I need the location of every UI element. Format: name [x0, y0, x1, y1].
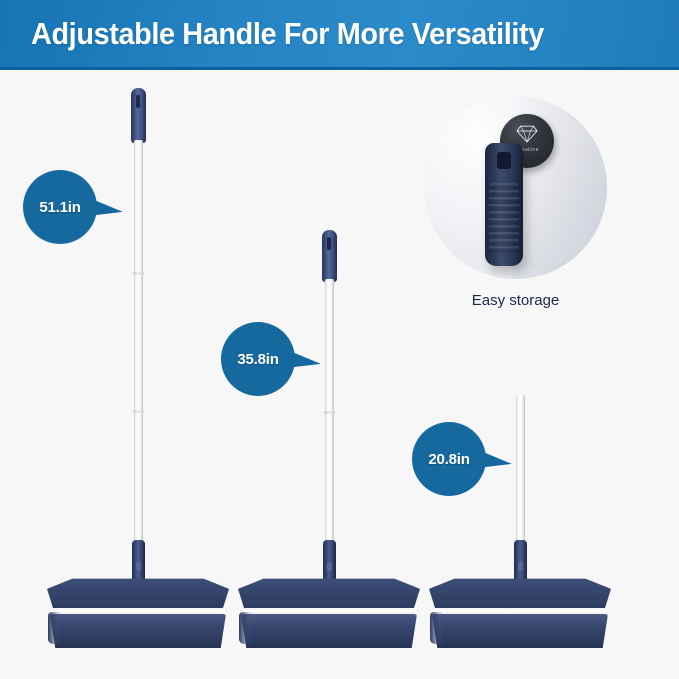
header-banner: Adjustable Handle For More Versatility	[0, 0, 679, 70]
squeegee-head-short	[429, 578, 611, 650]
head-side-tab	[239, 612, 251, 644]
squeegee-tall	[47, 88, 229, 623]
telescoping-pole-tall	[134, 140, 143, 550]
callout-label: 20.8in	[428, 451, 469, 468]
pole-joint	[133, 410, 144, 413]
head-top-shell	[238, 578, 420, 612]
diamond-icon	[516, 125, 538, 143]
product-stage: 51.1in 35.8in 20.8in	[0, 70, 679, 679]
handle-grip-tall	[131, 88, 146, 143]
callout-bubble-51in: 51.1in	[23, 170, 97, 244]
head-bottom-shell	[241, 614, 417, 648]
hanging-handle	[485, 143, 523, 266]
grip-ribs	[489, 183, 519, 253]
page-title: Adjustable Handle For More Versatility	[31, 16, 544, 52]
callout-bubble-208in: 20.8in	[412, 422, 486, 496]
hang-hole-icon	[327, 237, 331, 250]
handle-grip-medium	[322, 230, 337, 282]
easy-storage-figure: Creative	[424, 96, 607, 279]
callout-label: 51.1in	[39, 199, 80, 216]
head-top-shell	[429, 578, 611, 612]
squeegee-medium	[238, 230, 420, 623]
head-side-tab	[430, 612, 442, 644]
storage-caption: Easy storage	[424, 292, 607, 309]
head-side-tab	[48, 612, 60, 644]
callout-bubble-358in: 35.8in	[221, 322, 295, 396]
telescoping-pole-medium	[325, 279, 334, 550]
hang-hole-icon	[136, 95, 140, 108]
head-bottom-shell	[432, 614, 608, 648]
hang-hole-icon	[497, 152, 511, 169]
squeegee-head-medium	[238, 578, 420, 650]
release-button-icon	[136, 562, 141, 571]
head-bottom-shell	[50, 614, 226, 648]
squeegee-head-tall	[47, 578, 229, 650]
storage-photo: Creative	[424, 96, 607, 279]
head-top-shell	[47, 578, 229, 612]
release-button-icon	[327, 562, 332, 571]
infographic-page: Adjustable Handle For More Versatility	[0, 0, 679, 679]
pole-joint	[133, 272, 144, 275]
telescoping-pole-short	[516, 395, 525, 550]
callout-label: 35.8in	[237, 351, 278, 368]
pole-joint	[324, 411, 335, 414]
release-button-icon	[518, 562, 523, 571]
